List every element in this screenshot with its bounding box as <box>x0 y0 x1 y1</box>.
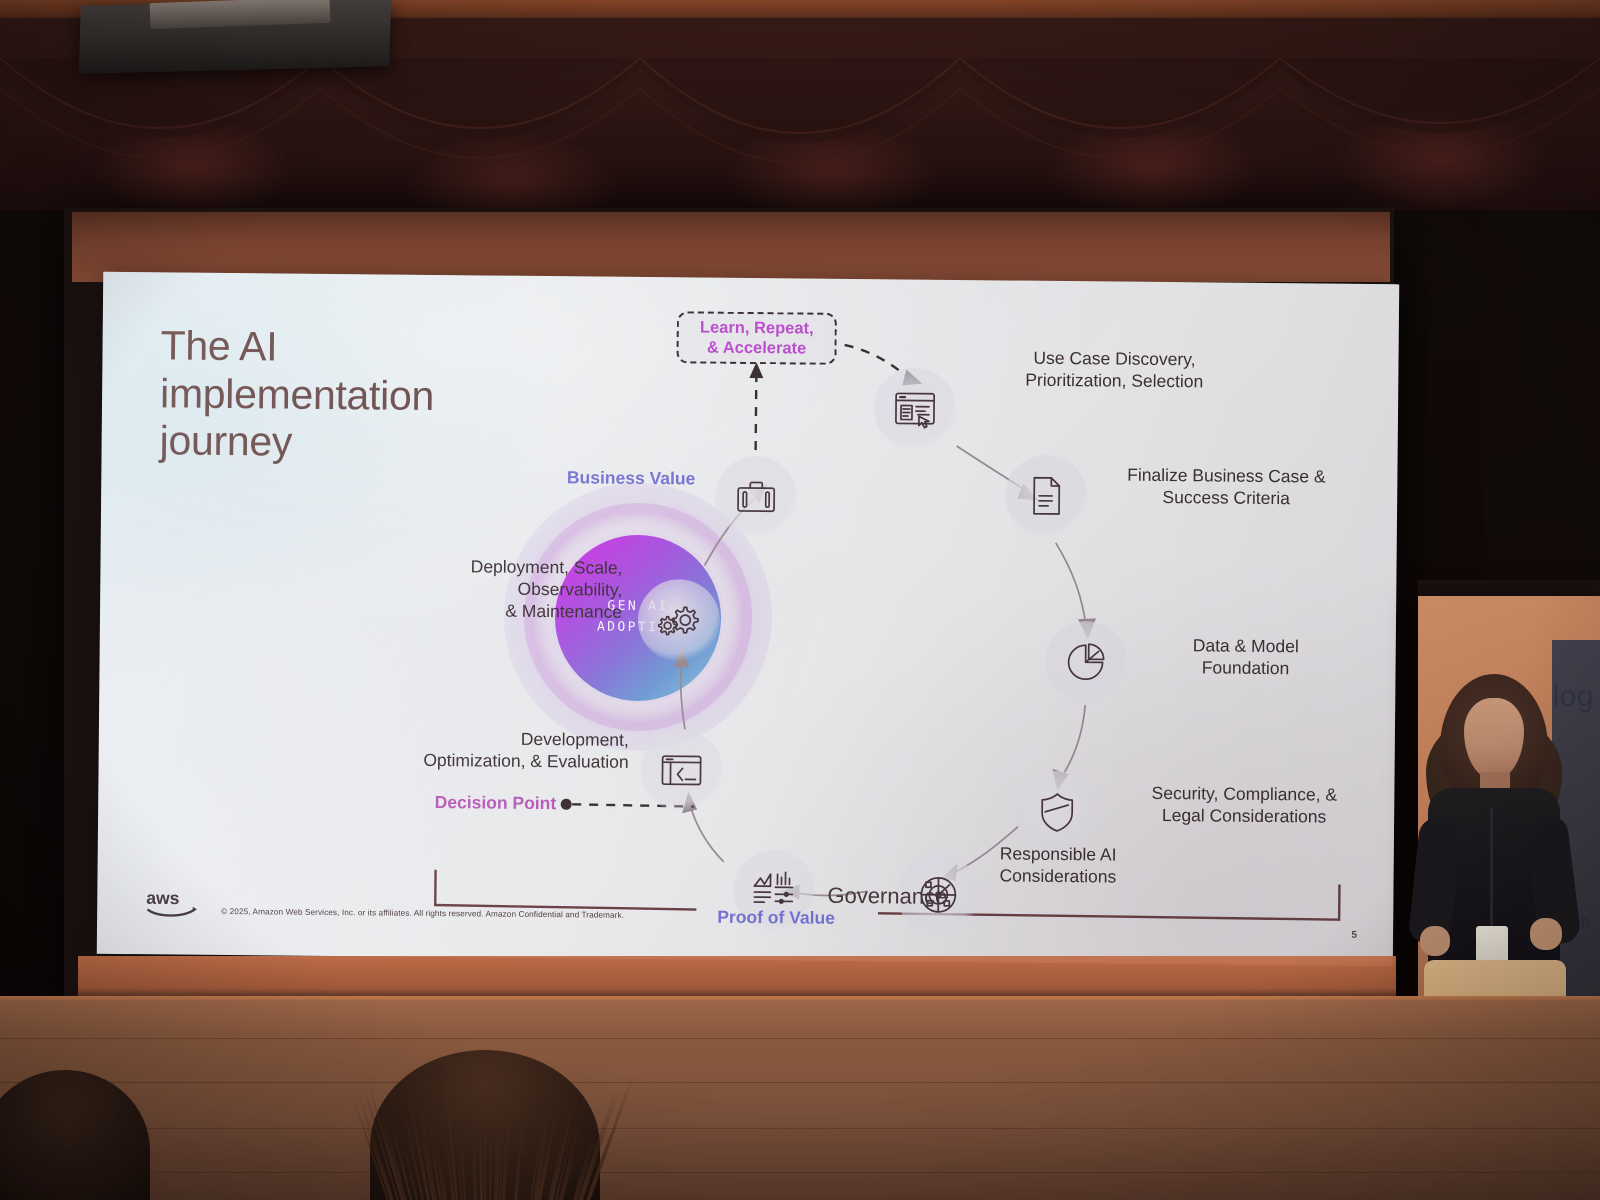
label-line-3: & Maintenance <box>372 598 622 622</box>
projection-spill-top <box>72 212 1390 282</box>
label-line-2: Foundation <box>1135 656 1355 680</box>
legend-business-value: Business Value <box>479 465 695 489</box>
label-line-2: Observability, <box>372 576 622 600</box>
code-window-icon <box>657 746 705 794</box>
label-line-2: Success Criteria <box>1091 485 1361 510</box>
node-development-optimization[interactable] <box>640 729 723 812</box>
aws-logo: aws <box>145 884 207 923</box>
shield-icon <box>1033 788 1081 836</box>
floor-plank-line <box>0 1038 1600 1039</box>
label-development-optimization: Development, Optimization, & Evaluation <box>347 726 629 773</box>
label-line-1: Development, <box>347 726 629 751</box>
label-line-2: Legal Considerations <box>1108 804 1380 829</box>
label-security-compliance: Security, Compliance, & Legal Considerat… <box>1108 781 1380 828</box>
title-line-3: journey <box>159 417 579 469</box>
stage-floor <box>0 1000 1600 1200</box>
callout-line-2: & Accelerate <box>707 339 807 358</box>
floor-plank-line <box>0 1128 1600 1129</box>
page-title: The AI implementation journey <box>159 322 580 469</box>
floor-plank-line <box>0 1082 1600 1083</box>
conference-room-scene: The AI implementation journey GEN AI ADO… <box>0 0 1600 1200</box>
learn-repeat-accelerate-callout: Learn, Repeat, & Accelerate <box>676 311 836 365</box>
presenter-hand-left <box>1420 926 1450 956</box>
briefcase-icon <box>732 473 780 521</box>
node-deployment-scale[interactable] <box>638 579 721 662</box>
label-line-1: Responsible AI <box>1000 842 1250 866</box>
title-line-2: implementation <box>160 370 580 422</box>
label-line-1: Deployment, Scale, <box>372 554 622 578</box>
audience-head <box>0 1070 150 1200</box>
label-deployment-scale: Deployment, Scale, Observability, & Main… <box>372 554 623 623</box>
gears-icon <box>655 596 703 644</box>
document-icon <box>1022 472 1070 520</box>
node-finalize-business-case[interactable] <box>1005 454 1088 537</box>
node-business-value[interactable] <box>715 456 798 539</box>
label-line-2: Optimization, & Evaluation <box>347 748 629 773</box>
label-use-case-discovery: Use Case Discovery, Prioritization, Sele… <box>974 346 1254 393</box>
label-line-1: Use Case Discovery, <box>974 346 1254 371</box>
page-number: 5 <box>1351 930 1357 941</box>
label-finalize-business-case: Finalize Business Case & Success Criteri… <box>1091 463 1361 510</box>
audience-head <box>370 1050 600 1200</box>
floor-plank-line <box>0 1172 1600 1173</box>
label-data-model-foundation: Data & Model Foundation <box>1135 634 1355 680</box>
aws-wordmark: aws <box>146 888 180 908</box>
callout-line-1: Learn, Repeat, <box>700 318 814 337</box>
node-data-model-foundation[interactable] <box>1045 621 1128 704</box>
node-use-case-discovery[interactable] <box>874 367 957 450</box>
presenter-lanyard <box>1490 808 1493 928</box>
browser-cursor-icon <box>891 384 939 432</box>
hair-strand <box>484 1066 486 1200</box>
presentation-slide: The AI implementation journey GEN AI ADO… <box>97 272 1399 966</box>
label-line-1: Data & Model <box>1136 634 1356 658</box>
label-line-1: Security, Compliance, & <box>1108 781 1380 806</box>
hair-strand <box>581 1088 620 1200</box>
pie-chart-icon <box>1062 638 1110 686</box>
label-line-1: Finalize Business Case & <box>1091 463 1361 488</box>
title-line-1: The AI <box>160 322 580 374</box>
governance-label: Governance <box>797 882 977 910</box>
label-line-2: Prioritization, Selection <box>974 368 1254 393</box>
hair-strand <box>489 1068 493 1200</box>
legend-decision-point: Decision Point <box>366 790 556 814</box>
node-security-compliance[interactable] <box>1016 771 1099 854</box>
presenter-hand-right <box>1530 918 1562 950</box>
hair-strand <box>514 1109 525 1200</box>
